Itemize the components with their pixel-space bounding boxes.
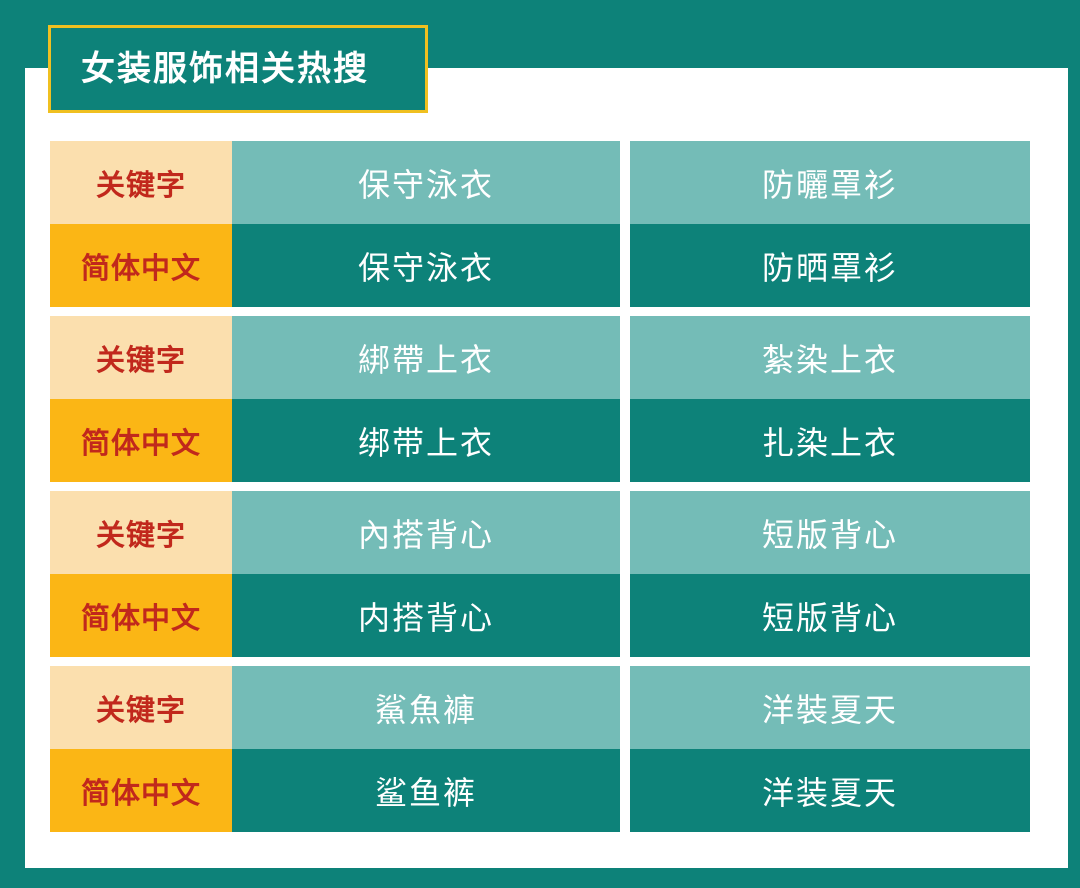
keyword-value-simplified[interactable]: 防晒罩衫	[630, 224, 1030, 307]
keyword-value-simplified[interactable]: 扎染上衣	[630, 399, 1030, 482]
table-row: 关键字 鯊魚褲	[50, 666, 620, 749]
keyword-value-traditional[interactable]: 紮染上衣	[630, 316, 1030, 399]
table-row: 关键字 綁帶上衣	[50, 316, 620, 399]
row-label-simplified-chinese: 简体中文	[50, 749, 232, 832]
keyword-value-traditional[interactable]: 綁帶上衣	[232, 316, 620, 399]
keyword-value-traditional[interactable]: 鯊魚褲	[232, 666, 620, 749]
table-row: 简体中文 内搭背心	[50, 574, 620, 657]
table-row: 简体中文 保守泳衣	[50, 224, 620, 307]
table-row: 短版背心	[630, 574, 1030, 657]
row-label-keyword: 关键字	[50, 141, 232, 224]
row-label-simplified-chinese: 简体中文	[50, 224, 232, 307]
keyword-group-right-column: 短版背心 短版背心	[630, 491, 1030, 657]
keyword-group-left-column: 关键字 保守泳衣 简体中文 保守泳衣	[50, 141, 620, 307]
table-row: 关键字 保守泳衣	[50, 141, 620, 224]
keyword-value-traditional[interactable]: 洋裝夏天	[630, 666, 1030, 749]
row-label-simplified-chinese: 简体中文	[50, 574, 232, 657]
keyword-group-right-column: 紮染上衣 扎染上衣	[630, 316, 1030, 482]
table-row: 洋装夏天	[630, 749, 1030, 832]
table-row: 防晒罩衫	[630, 224, 1030, 307]
keyword-value-traditional[interactable]: 防曬罩衫	[630, 141, 1030, 224]
row-label-keyword: 关键字	[50, 491, 232, 574]
keyword-value-simplified[interactable]: 保守泳衣	[232, 224, 620, 307]
table-row: 短版背心	[630, 491, 1030, 574]
keyword-group-right-column: 洋裝夏天 洋装夏天	[630, 666, 1030, 832]
keyword-group-left-column: 关键字 綁帶上衣 简体中文 绑带上衣	[50, 316, 620, 482]
keyword-table: 关键字 保守泳衣 简体中文 保守泳衣 防曬罩衫 防晒罩衫 关键字 綁帶上衣	[50, 141, 1030, 832]
row-label-keyword: 关键字	[50, 316, 232, 399]
row-label-simplified-chinese: 简体中文	[50, 399, 232, 482]
row-label-keyword: 关键字	[50, 666, 232, 749]
page-title: 女装服饰相关热搜	[81, 52, 369, 86]
keyword-group: 关键字 保守泳衣 简体中文 保守泳衣 防曬罩衫 防晒罩衫	[50, 141, 1030, 307]
title-chip: 女装服饰相关热搜	[48, 25, 428, 113]
keyword-value-simplified[interactable]: 绑带上衣	[232, 399, 620, 482]
keyword-group: 关键字 綁帶上衣 简体中文 绑带上衣 紮染上衣 扎染上衣	[50, 316, 1030, 482]
keyword-value-traditional[interactable]: 短版背心	[630, 491, 1030, 574]
keyword-value-traditional[interactable]: 內搭背心	[232, 491, 620, 574]
keyword-group-left-column: 关键字 鯊魚褲 简体中文 鲨鱼裤	[50, 666, 620, 832]
keyword-value-simplified[interactable]: 鲨鱼裤	[232, 749, 620, 832]
keyword-value-simplified[interactable]: 短版背心	[630, 574, 1030, 657]
table-row: 洋裝夏天	[630, 666, 1030, 749]
table-row: 关键字 內搭背心	[50, 491, 620, 574]
keyword-group-left-column: 关键字 內搭背心 简体中文 内搭背心	[50, 491, 620, 657]
table-row: 紮染上衣	[630, 316, 1030, 399]
keyword-value-simplified[interactable]: 洋装夏天	[630, 749, 1030, 832]
keyword-value-traditional[interactable]: 保守泳衣	[232, 141, 620, 224]
table-row: 简体中文 鲨鱼裤	[50, 749, 620, 832]
table-row: 防曬罩衫	[630, 141, 1030, 224]
table-row: 扎染上衣	[630, 399, 1030, 482]
keyword-group: 关键字 鯊魚褲 简体中文 鲨鱼裤 洋裝夏天 洋装夏天	[50, 666, 1030, 832]
keyword-group-right-column: 防曬罩衫 防晒罩衫	[630, 141, 1030, 307]
keyword-group: 关键字 內搭背心 简体中文 内搭背心 短版背心 短版背心	[50, 491, 1030, 657]
keyword-value-simplified[interactable]: 内搭背心	[232, 574, 620, 657]
table-row: 简体中文 绑带上衣	[50, 399, 620, 482]
